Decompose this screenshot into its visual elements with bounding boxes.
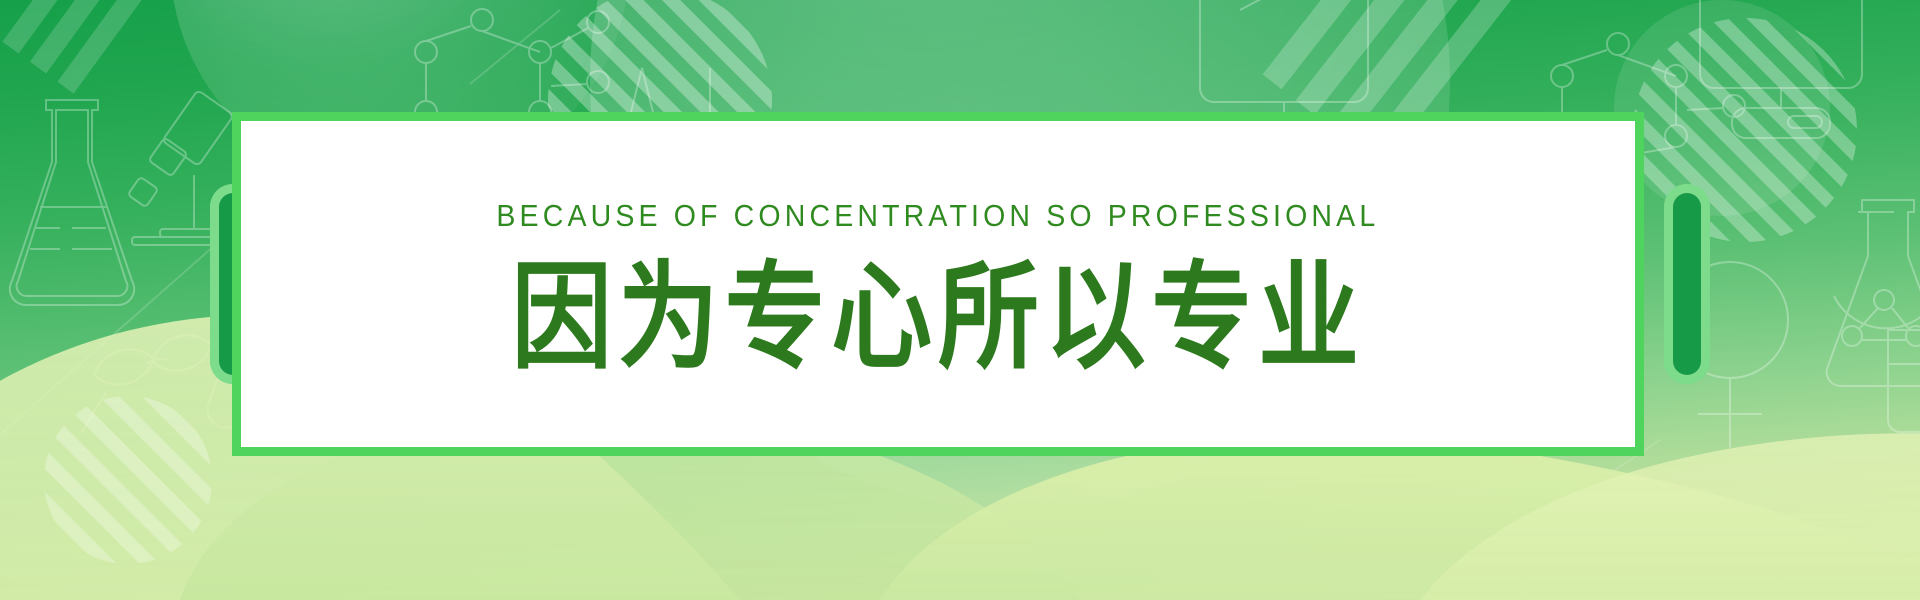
erlenmeyer-flask-icon xyxy=(10,100,134,305)
banner-headline: 因为专心所以专业 xyxy=(511,258,1365,374)
promo-banner: Cd xyxy=(0,0,1920,600)
flask-molecule-icon xyxy=(1827,200,1920,386)
banner-subtitle: BECAUSE OF CONCENTRATION SO PROFESSIONAL xyxy=(497,200,1380,231)
card-tab-right xyxy=(1664,184,1710,384)
striped-circle-top-left xyxy=(2,0,191,94)
headline-card: BECAUSE OF CONCENTRATION SO PROFESSIONAL… xyxy=(232,112,1644,456)
headline-card-wrapper: BECAUSE OF CONCENTRATION SO PROFESSIONAL… xyxy=(210,100,1710,468)
striped-circle-bottom-left xyxy=(44,396,212,564)
